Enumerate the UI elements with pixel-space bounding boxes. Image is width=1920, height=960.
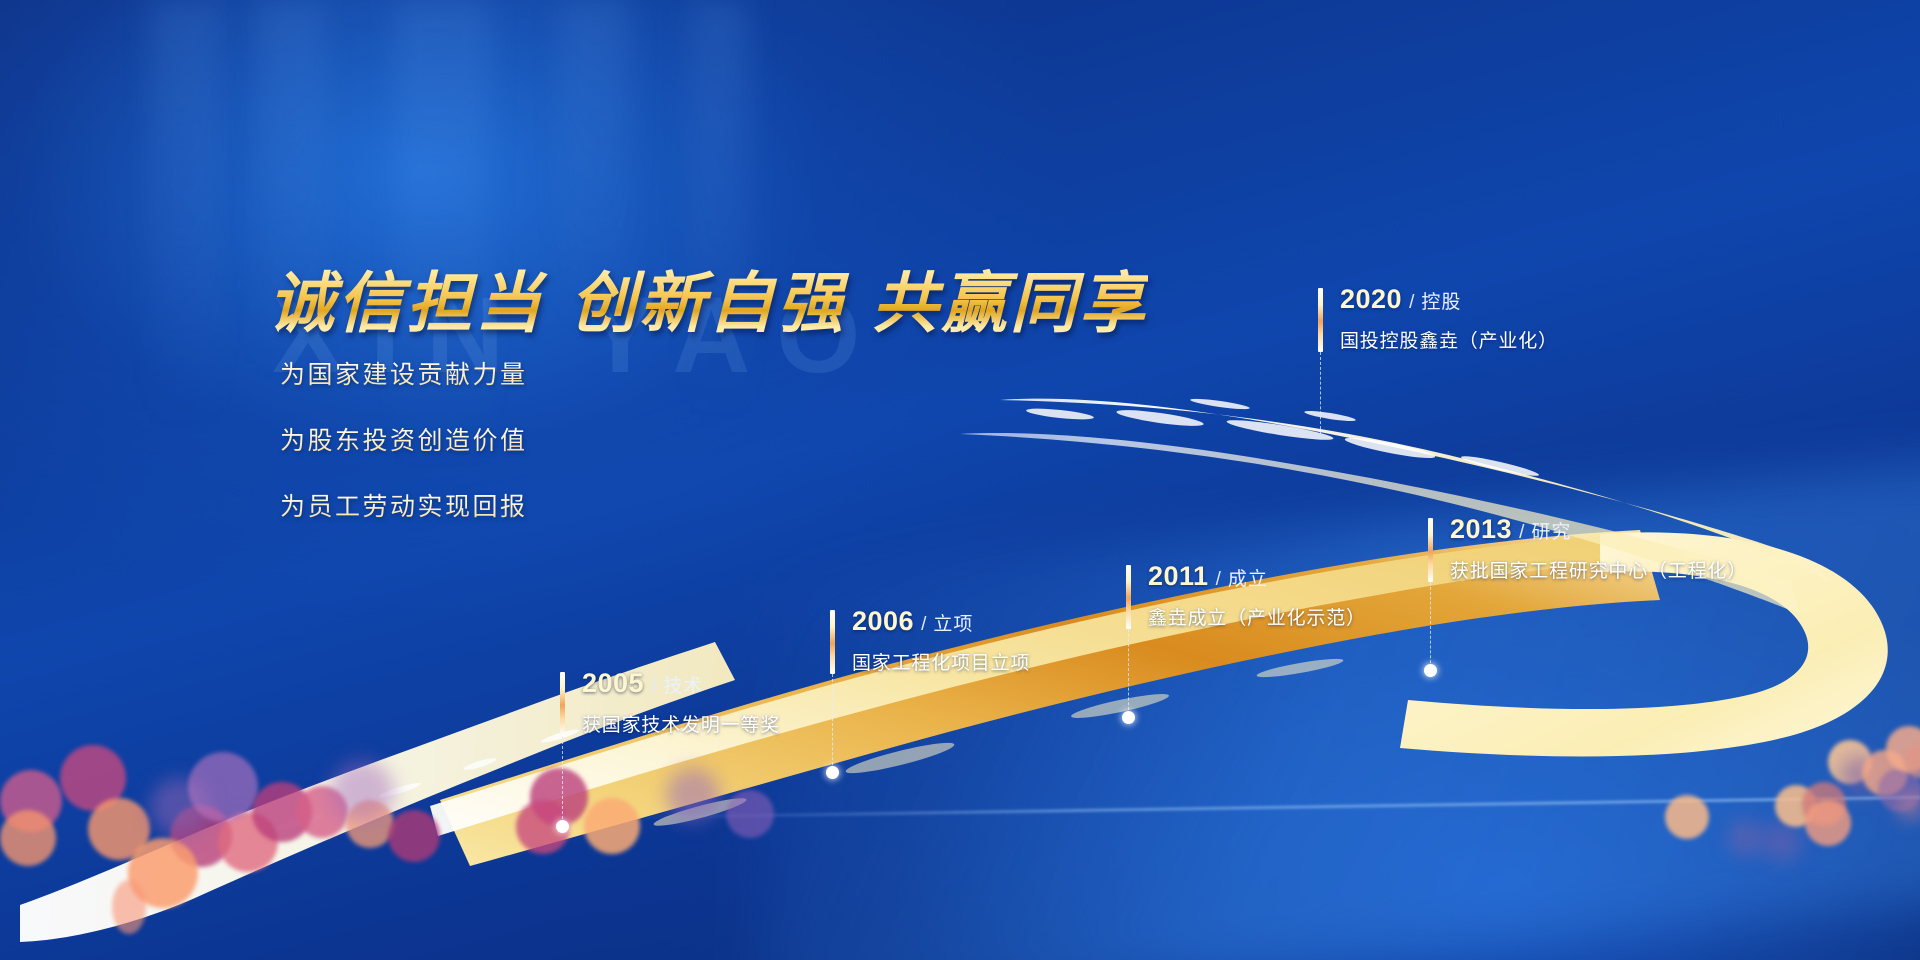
bokeh-circle xyxy=(346,800,394,848)
bokeh-circle xyxy=(1862,750,1908,796)
milestone-marker-dot xyxy=(1122,711,1135,724)
bokeh-circle xyxy=(1840,756,1880,796)
slogan-list: 为国家建设贡献力量 为股东投资创造价值 为员工劳动实现回报 xyxy=(280,355,528,553)
milestone-accent-bar xyxy=(560,672,565,736)
milestone-separator: / xyxy=(651,676,656,698)
milestone-text-block: 2011 / 成立 鑫垚成立（产业化示范） xyxy=(1148,561,1366,630)
bokeh-circle xyxy=(0,770,62,832)
milestone-year: 2006 xyxy=(852,606,914,637)
milestone-description: 鑫垚成立（产业化示范） xyxy=(1148,603,1366,630)
banner-stage: XIN YAO 诚信担当 创新自强 共赢同享 为国家建设贡献力量 为股东投资创造… xyxy=(0,0,1920,960)
bokeh-circle xyxy=(252,782,312,842)
milestone-leader-line xyxy=(1430,582,1431,668)
milestone-description: 国家工程化项目立项 xyxy=(852,648,1030,675)
light-streak xyxy=(150,0,220,430)
bokeh-circle xyxy=(1728,820,1764,856)
bokeh-circle xyxy=(666,768,720,822)
bokeh-circle xyxy=(330,760,394,824)
bokeh-circle xyxy=(0,810,56,866)
milestone-description: 获国家技术发明一等奖 xyxy=(582,710,780,737)
milestone-tag: 研究 xyxy=(1531,517,1571,544)
slogan-item: 为股东投资创造价值 xyxy=(280,421,528,457)
horizon-divider xyxy=(620,796,1920,819)
slogan-item: 为国家建设贡献力量 xyxy=(280,355,528,391)
milestone-text-block: 2020 / 控股 国投控股鑫垚（产业化） xyxy=(1340,284,1558,353)
bokeh-circle xyxy=(112,880,146,934)
bokeh-circle xyxy=(1802,782,1846,826)
milestone-description: 国投控股鑫垚（产业化） xyxy=(1340,326,1558,353)
milestone-accent-bar xyxy=(830,610,835,674)
bokeh-circle xyxy=(726,790,774,838)
milestone-tag: 控股 xyxy=(1421,287,1461,314)
milestone-tag: 立项 xyxy=(933,609,973,636)
page-title: 诚信担当 创新自强 共赢同享 xyxy=(268,250,1148,346)
milestone-year-row: 2020 / 控股 xyxy=(1340,284,1558,315)
bokeh-circle xyxy=(170,805,232,867)
milestone-year: 2011 xyxy=(1148,561,1209,592)
milestone-leader-line xyxy=(1320,352,1321,434)
milestone-marker-dot xyxy=(556,820,569,833)
bokeh-circle xyxy=(530,768,588,826)
brush-fleck-group xyxy=(205,727,580,865)
bokeh-circle xyxy=(1805,800,1851,846)
bokeh-circle xyxy=(1828,740,1872,784)
bokeh-circle xyxy=(150,778,208,836)
milestone-leader-line xyxy=(1128,629,1129,715)
milestone-year-row: 2005 / 技术 xyxy=(582,668,780,699)
milestone-text-block: 2005 / 技术 获国家技术发明一等奖 xyxy=(582,668,780,737)
milestone-accent-bar xyxy=(1428,518,1433,582)
bokeh-circle xyxy=(218,812,278,872)
bokeh-circle xyxy=(1665,795,1709,839)
milestone-accent-bar xyxy=(1126,565,1131,629)
light-streak xyxy=(690,0,750,420)
bokeh-circle xyxy=(60,745,126,811)
milestone-marker-dot xyxy=(826,766,839,779)
bokeh-circle xyxy=(1878,768,1920,812)
milestone-year: 2005 xyxy=(582,668,644,699)
milestone-tag: 成立 xyxy=(1228,564,1268,591)
bokeh-circle xyxy=(296,786,348,838)
bokeh-circle xyxy=(128,838,198,908)
slogan-item: 为员工劳动实现回报 xyxy=(280,487,528,523)
bokeh-circle xyxy=(1896,790,1920,820)
milestone-leader-line xyxy=(832,674,833,770)
bokeh-circle xyxy=(1904,744,1920,778)
milestone-text-block: 2006 / 立项 国家工程化项目立项 xyxy=(852,606,1030,675)
milestone-separator: / xyxy=(1519,522,1524,544)
milestone-accent-bar xyxy=(1318,288,1323,352)
milestone-text-block: 2013 / 研究 获批国家工程研究中心（工程化） xyxy=(1450,514,1747,583)
milestone-leader-line xyxy=(562,736,563,824)
milestone-tag: 技术 xyxy=(663,671,703,698)
milestone-description: 获批国家工程研究中心（工程化） xyxy=(1450,556,1747,583)
bokeh-circle xyxy=(88,798,150,860)
brush-speckle-group xyxy=(1026,397,1540,479)
milestone-separator: / xyxy=(1216,569,1221,591)
bokeh-circle xyxy=(1886,726,1920,772)
milestone-year: 2013 xyxy=(1450,514,1512,545)
bokeh-circle xyxy=(188,752,258,822)
bokeh-circle xyxy=(1762,822,1802,862)
bokeh-circle xyxy=(1775,785,1817,827)
milestone-year: 2020 xyxy=(1340,284,1402,315)
milestone-marker-dot xyxy=(1424,664,1437,677)
milestone-year-row: 2006 / 立项 xyxy=(852,606,1030,637)
bokeh-circle xyxy=(584,798,640,854)
milestone-year-row: 2011 / 成立 xyxy=(1148,561,1366,592)
milestone-separator: / xyxy=(921,614,926,636)
milestone-separator: / xyxy=(1409,292,1414,314)
bokeh-circle xyxy=(388,810,440,862)
milestone-year-row: 2013 / 研究 xyxy=(1450,514,1747,545)
